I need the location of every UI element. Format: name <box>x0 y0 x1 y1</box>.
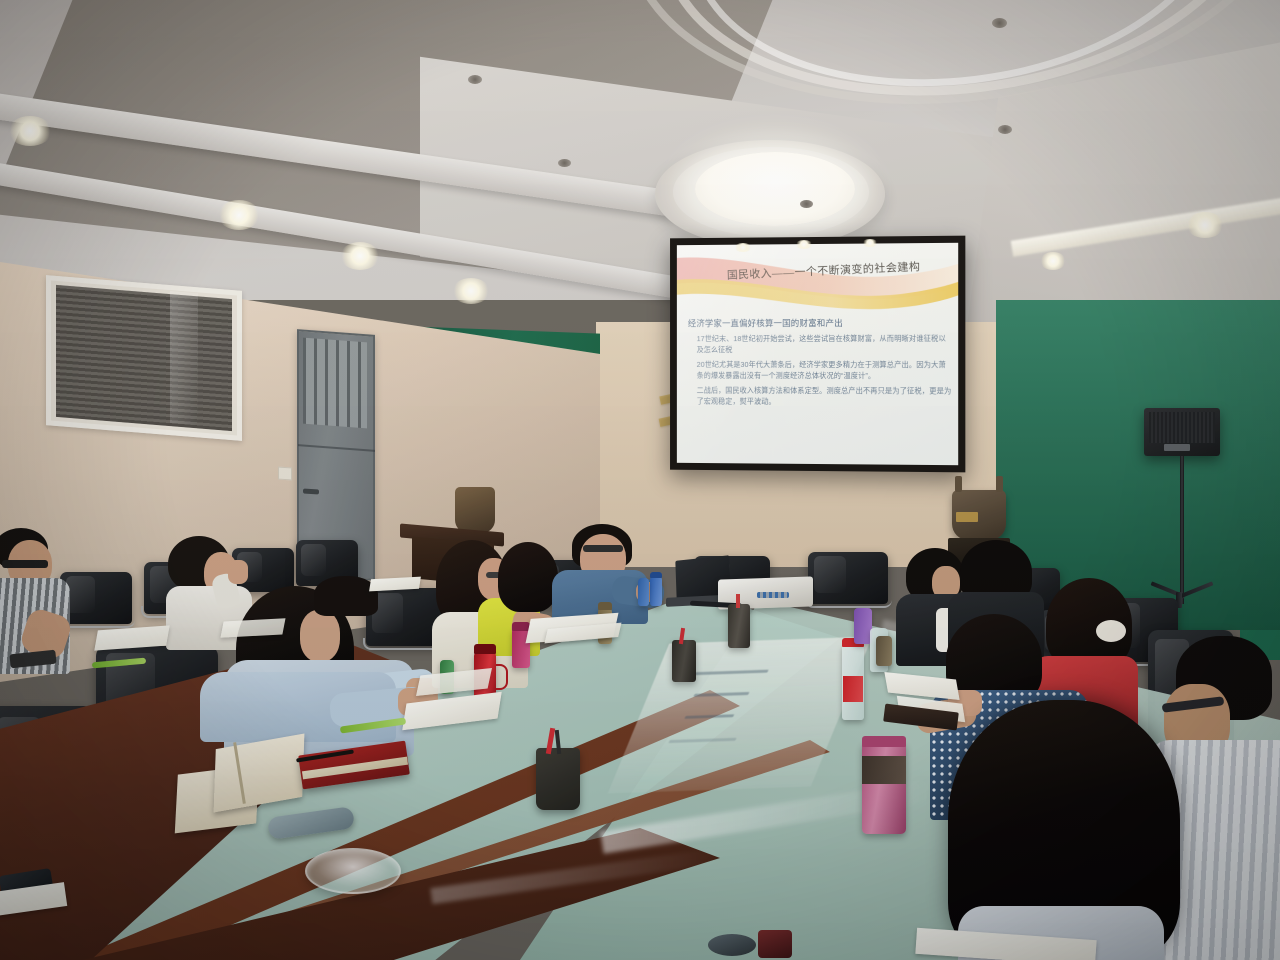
downlight-icon <box>998 125 1012 134</box>
slide-bullet-2: 17世纪末、18世纪初开始尝试，这些尝试旨在核算财富，从而明晰对谁征税以及怎么征… <box>697 332 953 355</box>
handout-papers[interactable] <box>220 618 285 637</box>
ceiling-dome-light <box>695 152 855 226</box>
slide-bullet-3: 20世纪尤其是30年代大萧条后，经济学家更多精力在于测算总产出。因为大萧条的爆发… <box>697 359 953 382</box>
downlight-icon <box>1186 212 1224 238</box>
bottle-label <box>843 676 863 702</box>
crystal-ashtray[interactable] <box>305 848 401 894</box>
downlight-icon <box>558 159 571 167</box>
eyeglasses[interactable] <box>708 934 756 956</box>
downlight-icon <box>8 116 52 146</box>
thermos-band <box>862 756 906 784</box>
eyeglasses-icon <box>2 560 48 568</box>
speaker-stand-pole <box>1180 456 1184 604</box>
slide-bullet-4: 二战后，国民收入核算方法和体系定型。测度总产出不再只是为了征税，更是为了宏观稳定… <box>697 385 953 408</box>
projector-controls[interactable] <box>757 592 789 598</box>
downlight-icon <box>800 200 813 208</box>
eyeglasses-icon <box>583 545 623 552</box>
loudspeaker-logo <box>1164 444 1190 451</box>
projection-screen-surface: 国民收入——一个不断演变的社会建构 经济学家一直偏好核算一国的财富和产出 17世… <box>677 243 958 465</box>
bottle-cap <box>650 572 662 578</box>
screen-top-light-icon <box>795 240 813 249</box>
screen-top-light-icon <box>862 239 878 247</box>
person-face <box>300 610 340 662</box>
brown-tumbler[interactable] <box>876 636 892 666</box>
person-hair-top <box>314 576 378 616</box>
pen[interactable] <box>736 594 740 608</box>
downlight-icon <box>218 200 260 230</box>
window-glass-reflection <box>170 291 198 425</box>
loudspeaker-grille <box>1149 412 1215 443</box>
thermos-cap <box>862 736 906 747</box>
person-hand <box>228 560 248 584</box>
downlight-icon <box>1040 252 1066 270</box>
chair[interactable] <box>808 552 888 604</box>
conference-room-photo: 书 书 <box>0 0 1280 960</box>
ceiling <box>0 0 1280 300</box>
bottle-cap <box>598 602 612 610</box>
light-switch[interactable] <box>278 467 292 481</box>
slide-body: 经济学家一直偏好核算一国的财富和产出 17世纪末、18世纪初开始尝试，这些尝试旨… <box>688 316 953 412</box>
downlight-icon <box>992 18 1007 28</box>
lectern-ornament-vase <box>455 487 495 533</box>
blue-tumbler[interactable] <box>638 578 649 606</box>
screen-top-light-icon <box>734 243 752 252</box>
bottle-cap <box>474 644 496 654</box>
downlight-icon <box>452 278 490 304</box>
downlight-icon <box>468 75 482 84</box>
bottle-handle <box>496 664 508 690</box>
pen-cup[interactable] <box>672 640 696 682</box>
pen-cup[interactable] <box>728 604 750 648</box>
door-handle[interactable] <box>303 488 319 494</box>
small-box[interactable] <box>758 930 792 958</box>
hair-clip <box>1096 620 1126 642</box>
urn-plaque <box>956 512 978 522</box>
blue-tumbler[interactable] <box>650 576 662 606</box>
window-blinds <box>56 285 232 431</box>
pen-cup[interactable] <box>536 748 580 810</box>
person-head-hair <box>498 542 558 612</box>
slide-bullet-1: 经济学家一直偏好核算一国的财富和产出 <box>688 316 953 329</box>
chair[interactable] <box>60 572 132 624</box>
projection-screen: 国民收入——一个不断演变的社会建构 经济学家一直偏好核算一国的财富和产出 17世… <box>670 236 965 473</box>
door-grille <box>303 338 367 429</box>
downlight-icon <box>340 242 380 270</box>
